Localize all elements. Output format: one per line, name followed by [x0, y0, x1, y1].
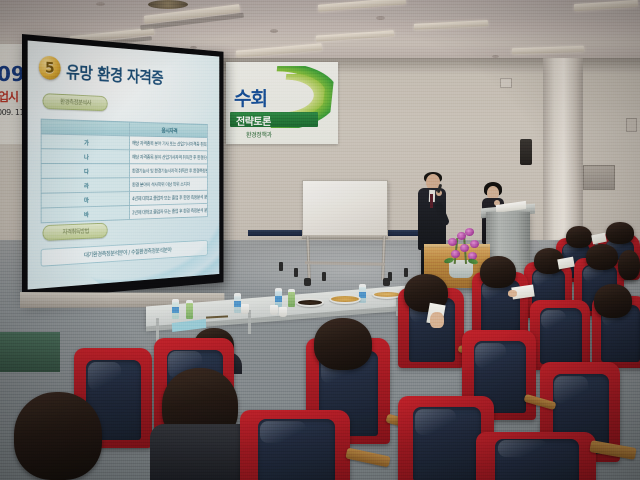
banner-subtext: 환경정책과: [246, 130, 272, 139]
bottle-label: [275, 296, 282, 302]
audience-member-head: [314, 318, 372, 370]
slide-row-label: 다: [41, 164, 129, 179]
ceiling-light-fixture: [414, 20, 488, 30]
audience-member-head: [480, 256, 516, 288]
slide-qualification-table: 응시자격 가 해당 자격종목 분야 기사 또는 산업기사자격증 취득한 자 나 …: [41, 119, 208, 224]
bottle-label: [172, 307, 179, 313]
photo-scene: 09 업시 009. 11. 수회 전략토론 환경정책과 5 유망 환경 자격증…: [0, 0, 640, 480]
orchid-bloom: [465, 228, 474, 236]
snack-plate: [329, 294, 361, 304]
auditorium-seat[interactable]: [530, 300, 590, 370]
slide-row-label: 나: [41, 149, 129, 164]
audience-member-head: [586, 244, 618, 270]
wall-speaker-icon: [520, 139, 532, 165]
bottle-label: [234, 301, 241, 307]
bottle-body: [186, 303, 193, 319]
banner-headline: 수회: [234, 84, 267, 111]
furniture-leg: [404, 268, 408, 277]
ceiling-sprinkler: [376, 16, 385, 20]
whiteboard-marker-tray: [302, 235, 388, 239]
seat-highlight: [554, 376, 588, 404]
slide-section-pill: 자격취득방법: [43, 223, 108, 241]
snack-food: [298, 300, 322, 305]
orchid-bloom: [460, 244, 469, 252]
slide-row-label: 가: [41, 134, 129, 150]
furniture-leg: [322, 272, 326, 281]
furniture-leg: [279, 262, 283, 271]
side-wall-panel: [0, 332, 60, 372]
left-banner-red-text: 업시: [0, 88, 18, 105]
ceiling-light-fixture: [512, 46, 584, 55]
audience-member-head: [566, 226, 592, 248]
orchid-bloom: [470, 240, 479, 248]
slide-number-badge: 5: [39, 55, 61, 80]
seat-highlight: [88, 362, 121, 390]
seat-highlight: [415, 409, 455, 435]
head-table-leg: [248, 310, 251, 334]
banner-green-bar: 전략토론: [230, 112, 318, 127]
slide-table-row: 나 해당 자격종목 분야 산업기사자격 취득한 후 환경分야에서 종사한 자 1…: [41, 149, 207, 164]
ceiling-light-fixture: [236, 43, 322, 57]
banner-bar-text: 전략토론: [236, 113, 271, 128]
slide-row-text: 해당 자격종목 분야 기사 또는 산업기사자격증 취득한 자: [129, 136, 207, 151]
ceiling-sprinkler: [96, 2, 105, 6]
auditorium-seat[interactable]: [240, 410, 350, 480]
wall-control-box: [626, 118, 637, 132]
auditorium-seat[interactable]: [476, 432, 596, 480]
slide-row-label: 바: [41, 206, 129, 223]
ceiling-sprinkler: [270, 29, 278, 33]
audience-member-head: [618, 250, 640, 280]
audience-raised-hand: [430, 312, 444, 328]
slide-row-text: 해당 자격종목 분야 산업기사자격 취득한 후 환경分야에서 종사한 자 1년 …: [129, 150, 207, 164]
wall-control-box: [500, 78, 512, 88]
paper-cup: [270, 305, 278, 315]
audience-member-head: [594, 284, 632, 318]
orchid-bloom: [448, 238, 457, 246]
projection-screen: 5 유망 환경 자격증 환경측정분석사 응시자격 가 해당 자격종목 분야 기사…: [22, 34, 224, 300]
slide-row-text: 2년제 대학교 졸업자 또는 졸업 후 환경 측정분석 분야에서 3년 이상 실…: [129, 203, 207, 219]
seat-highlight: [475, 343, 506, 368]
bottle-body: [288, 292, 295, 307]
audience-hand: [508, 290, 517, 297]
seat-highlight: [541, 310, 566, 330]
stage-banner: 수회 전략토론 환경정책과: [226, 62, 338, 144]
wall-vent: [583, 165, 615, 190]
whiteboard-wheel: [304, 278, 311, 286]
ceiling-light-fixture: [574, 0, 638, 11]
presenter-necktie: [430, 194, 433, 208]
ceiling-speaker-grille: [148, 0, 188, 9]
presenter-suit-jacket: [418, 188, 446, 250]
slide-section-pill: 환경측정분석사: [43, 93, 108, 111]
projected-slide: 5 유망 환경 자격증 환경측정분석사 응시자격 가 해당 자격종목 분야 기사…: [28, 40, 220, 289]
ceiling-light-fixture: [318, 0, 406, 12]
water-bottle: [172, 299, 179, 319]
snack-food: [331, 296, 359, 302]
furniture-leg: [388, 272, 392, 281]
whiteboard: [302, 180, 388, 236]
slide-table-row: 다 환경기능사 및 환경기능사자격 취득한 후 환경측정분석 분야에서 3년 이…: [41, 164, 207, 179]
ceiling-light-fixture: [316, 30, 394, 41]
snack-plate: [296, 298, 324, 307]
slide-row-label: 라: [41, 178, 129, 193]
slide-row-text: 환경기능사 및 환경기능사자격 취득한 후 환경측정분석 분야에서 3년 이상 …: [129, 164, 207, 178]
paper-cup: [279, 307, 287, 317]
seat-highlight: [260, 421, 306, 443]
water-bottle: [234, 293, 241, 313]
audience-member-head: [606, 222, 634, 244]
furniture-leg: [294, 268, 298, 277]
slide-pill-top-label: 환경측정분석사: [43, 94, 106, 111]
paper-cup: [241, 304, 249, 314]
seat-highlight: [498, 440, 548, 457]
snack-food: [374, 292, 400, 297]
audience-member-head: [14, 392, 102, 480]
water-bottle: [288, 289, 295, 307]
water-bottle: [186, 300, 193, 319]
